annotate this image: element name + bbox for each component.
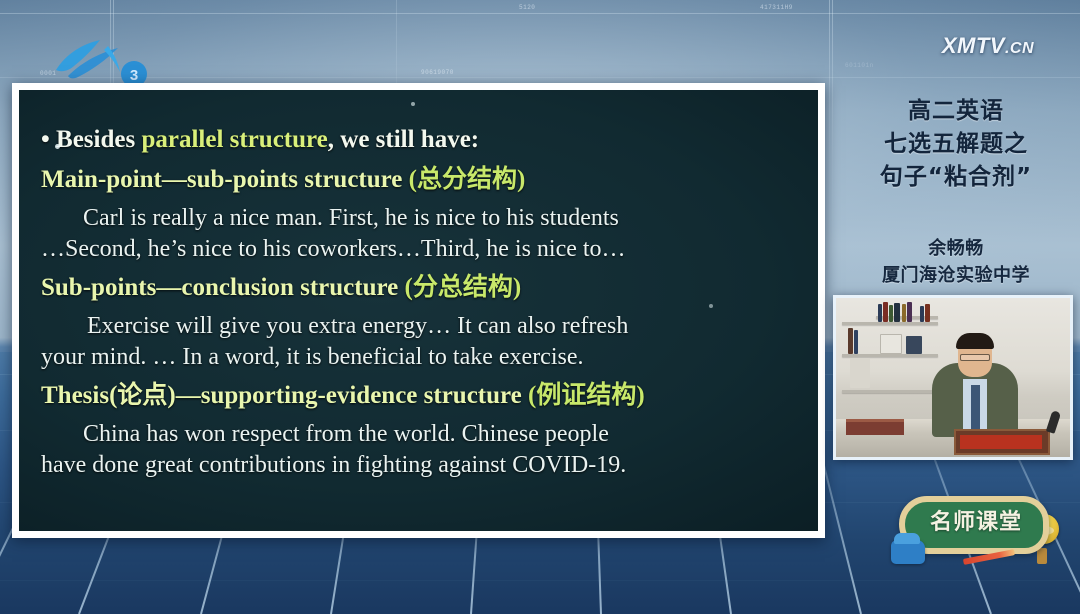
structure-heading-en-2: Sub-points—conclusion structure bbox=[41, 274, 405, 301]
paint-pot-icon bbox=[891, 540, 925, 564]
bullet-text-after: , we still have: bbox=[328, 126, 479, 153]
micro-label: 90619070 bbox=[421, 69, 454, 76]
slide-bullet-line: • Besides parallel structure, we still h… bbox=[41, 124, 796, 155]
course-title-line-1: 高二英语 bbox=[840, 95, 1072, 128]
structure-example-3-line-2: have done great contributions in fightin… bbox=[41, 450, 796, 481]
presentation-slide: • Besides parallel structure, we still h… bbox=[19, 90, 818, 531]
structure-example-3-line-1: China has won respect from the world. Ch… bbox=[41, 419, 796, 450]
micro-label: 0001 bbox=[40, 70, 56, 77]
teacher-video-inset[interactable] bbox=[833, 295, 1073, 460]
teacher-name: 余畅畅 bbox=[840, 235, 1072, 262]
structure-heading-2: Sub-points—conclusion structure (分总结构) bbox=[41, 272, 796, 303]
presenter-info: 余畅畅 厦门海沧实验中学 bbox=[840, 235, 1072, 289]
video-book bbox=[846, 419, 904, 435]
structure-example-1-line-2: …Second, he’s nice to his coworkers…Thir… bbox=[41, 234, 796, 265]
structure-example-2-line-2: your mind. … In a word, it is beneficial… bbox=[41, 342, 796, 373]
structure-heading-1: Main-point—sub-points structure (总分结构) bbox=[41, 164, 796, 195]
structure-heading-en-3: Thesis(论点)—supporting-evidence structure bbox=[41, 382, 528, 409]
program-badge: 名师课堂 bbox=[893, 492, 1061, 566]
course-title: 高二英语 七选五解题之 句子“粘合剂” bbox=[840, 95, 1072, 194]
structure-heading-3: Thesis(论点)—supporting-evidence structure… bbox=[41, 380, 796, 411]
bullet-highlight: parallel structure bbox=[141, 126, 327, 153]
broadcast-stage: 0001 5120 417311H9 90619070 601101n bbox=[0, 0, 1080, 614]
structure-heading-cn-3: (例证结构) bbox=[528, 382, 645, 409]
plant-icon bbox=[1037, 548, 1047, 564]
program-badge-label: 名师课堂 bbox=[907, 508, 1045, 538]
structure-heading-cn-1: (总分结构) bbox=[409, 166, 526, 193]
micro-label: 601101n bbox=[845, 62, 874, 69]
bullet-marker: • bbox=[41, 126, 50, 153]
structure-example-2-line-1: Exercise will give you extra energy… It … bbox=[41, 311, 796, 342]
teacher-figure bbox=[932, 327, 1018, 437]
watermark-suffix: .CN bbox=[1005, 40, 1034, 57]
video-podium-sign bbox=[960, 435, 1042, 449]
svg-text:3: 3 bbox=[130, 67, 138, 84]
structure-example-1-line-1: Carl is really a nice man. First, he is … bbox=[41, 203, 796, 234]
structure-heading-en-1: Main-point—sub-points structure bbox=[41, 166, 409, 193]
presentation-slide-frame: • Besides parallel structure, we still h… bbox=[12, 83, 825, 538]
school-name: 厦门海沧实验中学 bbox=[840, 262, 1072, 289]
bullet-text-before: Besides bbox=[56, 126, 141, 153]
micro-label: 5120 bbox=[519, 4, 535, 11]
course-title-line-3: 句子“粘合剂” bbox=[840, 161, 1072, 194]
course-title-line-2: 七选五解题之 bbox=[840, 128, 1072, 161]
watermark-main: XMTV bbox=[942, 33, 1005, 58]
xmtv-watermark: XMTV.CN bbox=[942, 33, 1034, 59]
structure-heading-cn-2: (分总结构) bbox=[405, 274, 522, 301]
micro-label: 417311H9 bbox=[760, 4, 793, 11]
